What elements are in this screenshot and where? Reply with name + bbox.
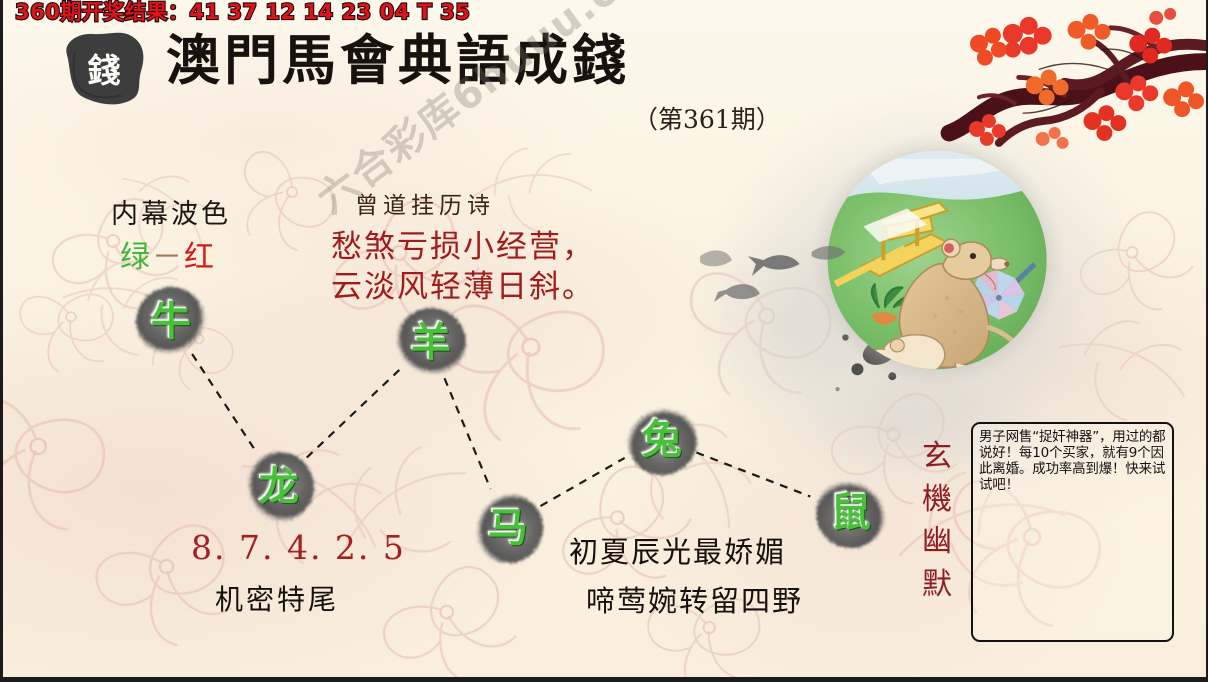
zodiac-label: 牛 bbox=[151, 302, 191, 342]
draw-result-banner: 360期开奖结果：41 37 12 14 23 04 T 35 bbox=[15, 0, 470, 26]
zodiac-link-马-兔 bbox=[540, 458, 624, 506]
vertical-heading-char-3: 默 bbox=[917, 564, 957, 607]
secret-tail-numbers: 8. 7. 4. 2. 5 bbox=[191, 528, 406, 567]
zodiac-link-兔-鼠 bbox=[696, 453, 810, 497]
zodiac-node-牛[interactable]: 牛 bbox=[130, 281, 212, 363]
verse-line-1: 初夏辰光最娇媚 bbox=[569, 529, 786, 571]
draw-result-text: 360期开奖结果：41 37 12 14 23 04 T 35 bbox=[15, 0, 470, 26]
secret-tail-label: 机密特尾 bbox=[215, 578, 339, 618]
zodiac-label: 马 bbox=[488, 508, 528, 548]
humor-text: 男子网售“捉奸神器”，用过的都说好！每10个买家，就有9个因此离婚。成功率高到爆… bbox=[979, 430, 1167, 494]
zodiac-node-龙[interactable]: 龙 bbox=[238, 446, 320, 528]
verse-line-2: 啼莺婉转留四野 bbox=[586, 578, 803, 620]
zodiac-link-龙-羊 bbox=[307, 369, 401, 458]
zodiac-label: 羊 bbox=[411, 323, 451, 363]
zodiac-node-兔[interactable]: 兔 bbox=[621, 399, 703, 481]
vertical-heading-char-2: 幽 bbox=[917, 521, 957, 564]
vertical-heading-char-0: 玄 bbox=[917, 436, 957, 479]
vertical-heading-char-1: 機 bbox=[917, 479, 957, 522]
zodiac-node-鼠[interactable]: 鼠 bbox=[810, 472, 892, 554]
zodiac-node-马[interactable]: 马 bbox=[467, 487, 549, 569]
zodiac-label: 鼠 bbox=[831, 493, 871, 533]
zodiac-link-牛-龙 bbox=[192, 354, 256, 452]
zodiac-node-羊[interactable]: 羊 bbox=[390, 302, 472, 384]
humor-text-box: 男子网售“捉奸神器”，用过的都说好！每10个买家，就有9个因此离婚。成功率高到爆… bbox=[971, 422, 1174, 642]
zodiac-label: 兔 bbox=[642, 420, 682, 460]
mystic-humor-heading: 玄機幽默 bbox=[917, 436, 957, 606]
lottery-poster: 六合彩库6huuu.com 360期开奖结果：41 37 12 14 23 04… bbox=[0, 0, 1208, 682]
zodiac-link-羊-马 bbox=[445, 378, 491, 489]
zodiac-label: 龙 bbox=[259, 467, 299, 507]
